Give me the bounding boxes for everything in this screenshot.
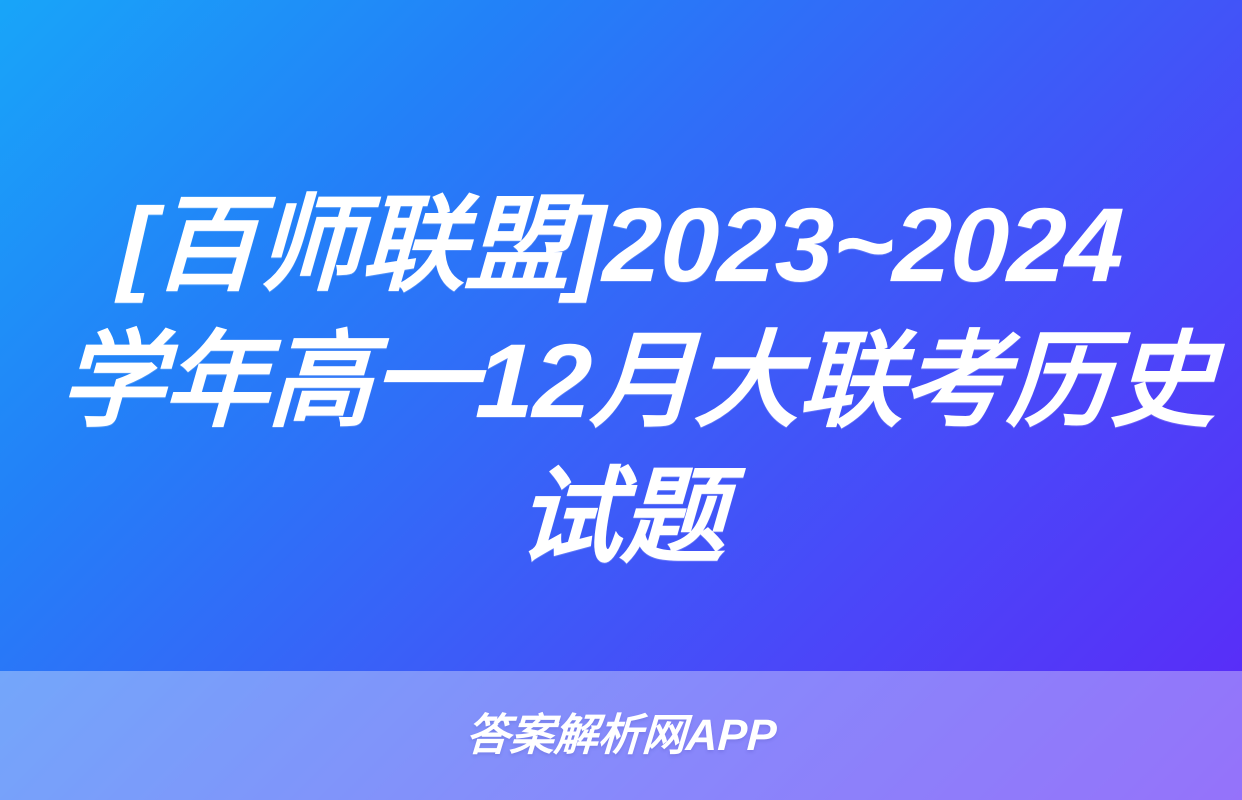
footer-watermark-label: 答案解析网APP: [464, 711, 777, 761]
title-line-1: [百师联盟]2023~2024: [58, 178, 1185, 314]
footer-watermark-band: 答案解析网APP: [0, 671, 1242, 800]
title-block: [百师联盟]2023~2024 学年高一12月大联考历史 试题: [0, 178, 1242, 608]
title-line-2: 学年高一12月大联考历史: [58, 314, 1185, 450]
title-line-3: 试题: [58, 450, 1185, 586]
poster-canvas: [百师联盟]2023~2024 学年高一12月大联考历史 试题 答案解析网APP: [0, 0, 1242, 800]
